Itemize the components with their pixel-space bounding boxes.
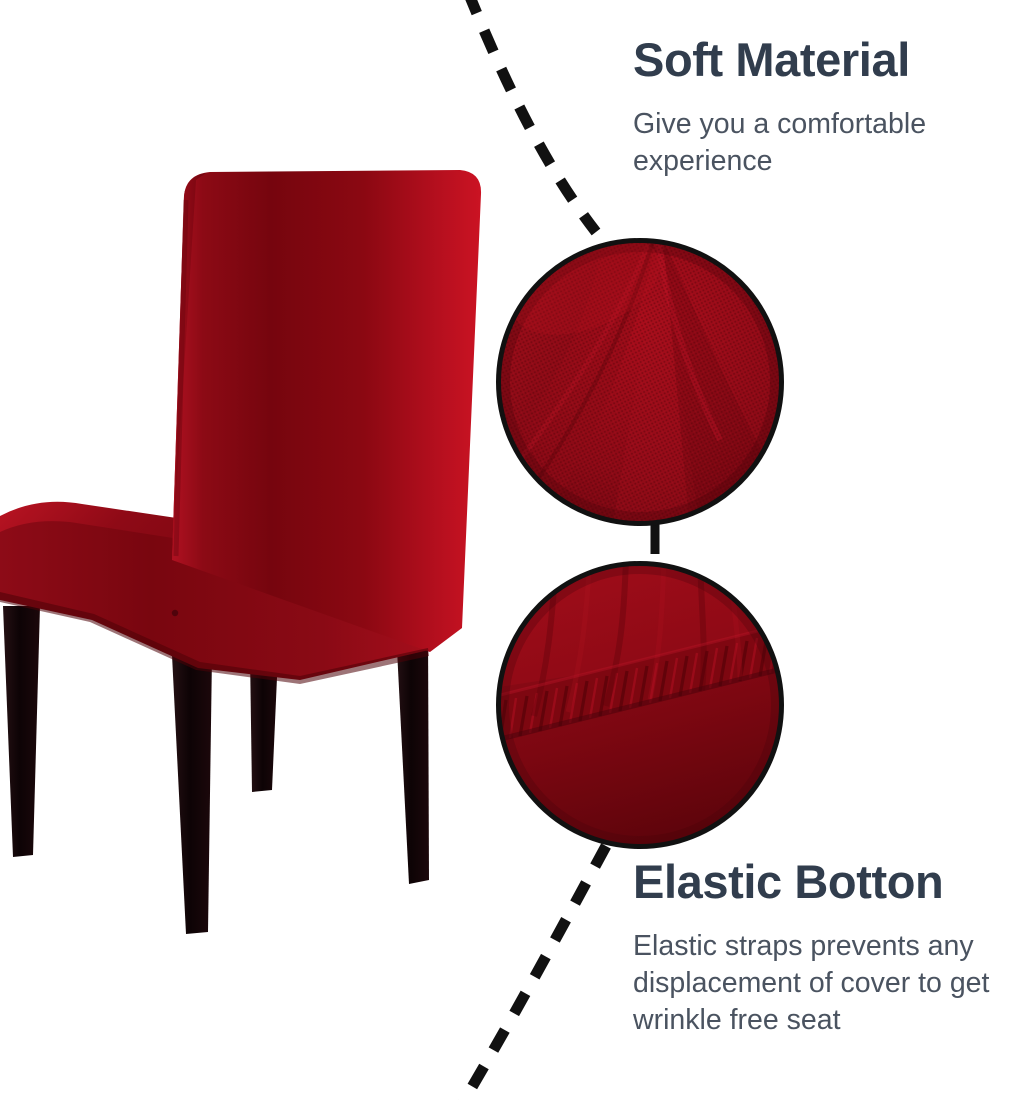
chair-leg-front-left <box>3 606 40 857</box>
feature-description-elastic-botton: Elastic straps prevents any displacement… <box>633 928 1030 1039</box>
feature-title-elastic-botton: Elastic Botton <box>633 858 1030 906</box>
leader-line-bottom <box>462 846 606 1100</box>
elastic-hem-closeup <box>480 558 802 860</box>
chair-cover-stitch-dot <box>172 610 178 616</box>
feature-block-soft-material: Soft Material Give you a comfortable exp… <box>633 36 1025 180</box>
chair-leg-rear-right <box>396 630 429 884</box>
fabric-texture-closeup <box>470 218 812 530</box>
feature-block-elastic-botton: Elastic Botton Elastic straps prevents a… <box>633 858 1030 1039</box>
feature-title-soft-material: Soft Material <box>633 36 1025 84</box>
red-chair-with-cover <box>0 170 481 934</box>
feature-description-soft-material: Give you a comfortable experience <box>633 106 1025 180</box>
leader-line-top <box>468 0 596 232</box>
infographic-page: Soft Material Give you a comfortable exp… <box>0 0 1030 1100</box>
chair-leg-front-right <box>172 655 212 934</box>
